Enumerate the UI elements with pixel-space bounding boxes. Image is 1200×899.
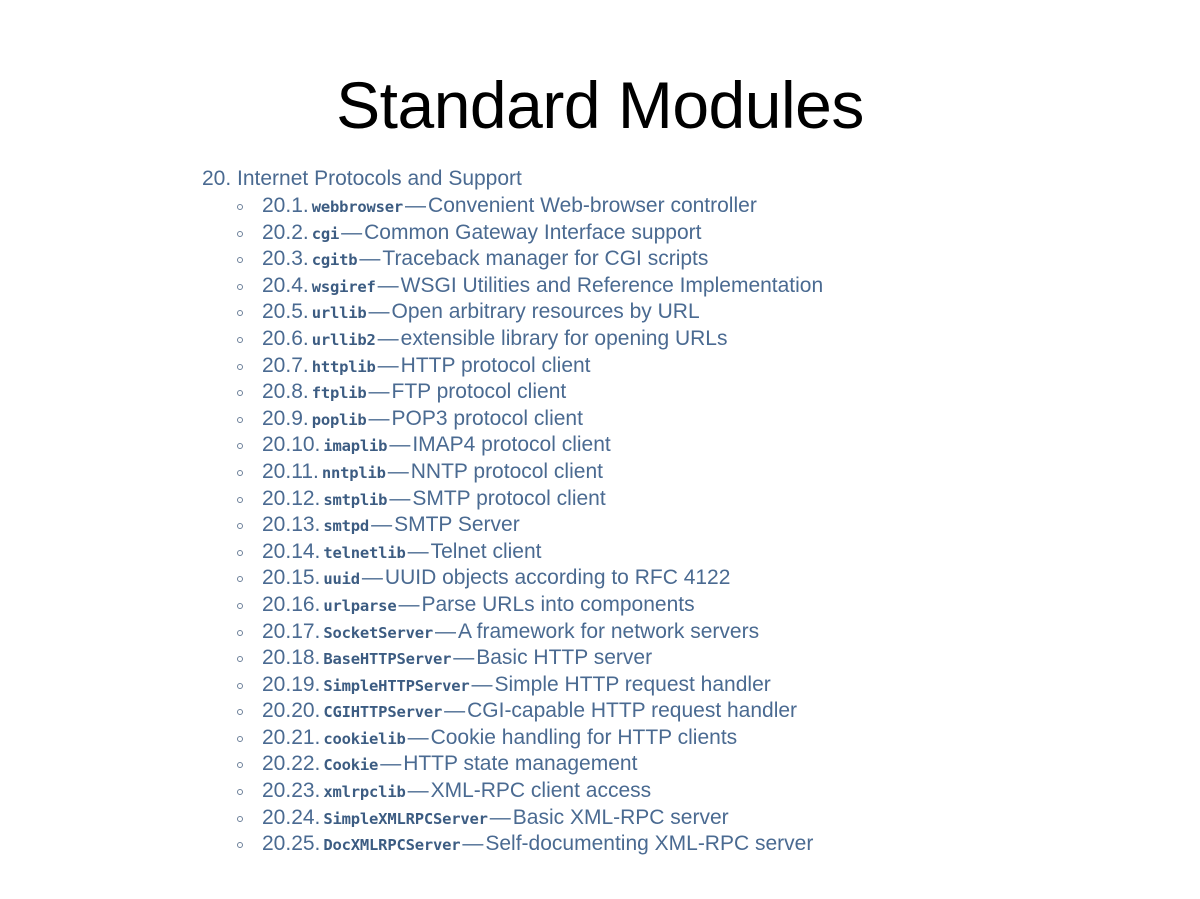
- em-dash-separator: —: [387, 487, 412, 510]
- list-item-number: 20.15.: [262, 566, 320, 589]
- module-description: Parse URLs into components: [421, 593, 694, 616]
- module-name[interactable]: urlparse: [320, 597, 396, 615]
- module-name[interactable]: wsgiref: [309, 278, 376, 296]
- list-item-number: 20.24.: [262, 806, 320, 829]
- list-item-number: 20.17.: [262, 620, 320, 643]
- list-item-number: 20.10.: [262, 433, 320, 456]
- module-name[interactable]: urllib: [309, 304, 367, 322]
- em-dash-separator: —: [378, 752, 403, 775]
- module-description: Convenient Web-browser controller: [428, 194, 757, 217]
- module-description: Telnet client: [431, 540, 542, 563]
- list-item[interactable]: 20.8.ftplib—FTP protocol client: [202, 379, 1162, 406]
- hollow-circle-bullet-icon: [237, 443, 243, 449]
- module-name[interactable]: ftplib: [309, 384, 367, 402]
- list-item-number: 20.19.: [262, 673, 320, 696]
- em-dash-separator: —: [387, 433, 412, 456]
- module-description: HTTP state management: [403, 752, 637, 775]
- list-item[interactable]: 20.5.urllib—Open arbitrary resources by …: [202, 299, 1162, 326]
- em-dash-separator: —: [339, 221, 364, 244]
- list-item[interactable]: 20.23.xmlrpclib—XML-RPC client access: [202, 778, 1162, 805]
- em-dash-separator: —: [360, 566, 385, 589]
- em-dash-separator: —: [369, 513, 394, 536]
- module-description: CGI-capable HTTP request handler: [467, 699, 797, 722]
- list-item[interactable]: 20.2.cgi—Common Gateway Interface suppor…: [202, 220, 1162, 247]
- em-dash-separator: —: [470, 673, 495, 696]
- list-item[interactable]: 20.17.SocketServer—A framework for netwo…: [202, 619, 1162, 646]
- module-description: SMTP protocol client: [412, 487, 605, 510]
- module-name[interactable]: SimpleXMLRPCServer: [320, 810, 487, 828]
- list-item-number: 20.16.: [262, 593, 320, 616]
- list-item-number: 20.4.: [262, 274, 309, 297]
- module-name[interactable]: poplib: [309, 411, 367, 429]
- module-description: WSGI Utilities and Reference Implementat…: [401, 274, 824, 297]
- em-dash-separator: —: [357, 247, 382, 270]
- hollow-circle-bullet-icon: [237, 257, 243, 263]
- module-name[interactable]: cgitb: [309, 251, 358, 269]
- hollow-circle-bullet-icon: [237, 576, 243, 582]
- module-description: NNTP protocol client: [411, 460, 603, 483]
- list-item[interactable]: 20.10.imaplib—IMAP4 protocol client: [202, 432, 1162, 459]
- hollow-circle-bullet-icon: [237, 337, 243, 343]
- module-description: POP3 protocol client: [392, 407, 583, 430]
- em-dash-separator: —: [406, 726, 431, 749]
- list-item-number: 20.2.: [262, 221, 309, 244]
- module-description: Cookie handling for HTTP clients: [431, 726, 738, 749]
- module-name[interactable]: webbrowser: [309, 198, 403, 216]
- em-dash-separator: —: [396, 593, 421, 616]
- hollow-circle-bullet-icon: [237, 523, 243, 529]
- module-name[interactable]: SocketServer: [320, 624, 433, 642]
- hollow-circle-bullet-icon: [237, 789, 243, 795]
- module-name[interactable]: telnetlib: [320, 544, 405, 562]
- hollow-circle-bullet-icon: [237, 550, 243, 556]
- em-dash-separator: —: [403, 194, 428, 217]
- module-description: Simple HTTP request handler: [495, 673, 771, 696]
- module-name[interactable]: DocXMLRPCServer: [320, 836, 460, 854]
- hollow-circle-bullet-icon: [237, 310, 243, 316]
- hollow-circle-bullet-icon: [237, 497, 243, 503]
- module-description: Basic HTTP server: [476, 646, 652, 669]
- list-item-number: 20.5.: [262, 300, 309, 323]
- em-dash-separator: —: [367, 380, 392, 403]
- hollow-circle-bullet-icon: [237, 603, 243, 609]
- list-item[interactable]: 20.1.webbrowser—Convenient Web-browser c…: [202, 193, 1162, 220]
- list-item[interactable]: 20.20.CGIHTTPServer—CGI-capable HTTP req…: [202, 698, 1162, 725]
- module-description: HTTP protocol client: [401, 354, 591, 377]
- hollow-circle-bullet-icon: [237, 816, 243, 822]
- module-description: Self-documenting XML-RPC server: [485, 832, 813, 855]
- list-item[interactable]: 20.11.nntplib—NNTP protocol client: [202, 459, 1162, 486]
- module-name[interactable]: xmlrpclib: [320, 783, 405, 801]
- em-dash-separator: —: [406, 540, 431, 563]
- em-dash-separator: —: [442, 699, 467, 722]
- list-item-number: 20.12.: [262, 487, 320, 510]
- list-item-number: 20.9.: [262, 407, 309, 430]
- em-dash-separator: —: [367, 407, 392, 430]
- list-item-number: 20.11.: [262, 460, 319, 483]
- module-description: Common Gateway Interface support: [364, 221, 701, 244]
- hollow-circle-bullet-icon: [237, 842, 243, 848]
- hollow-circle-bullet-icon: [237, 204, 243, 210]
- module-name[interactable]: cookielib: [320, 730, 405, 748]
- module-name[interactable]: SimpleHTTPServer: [320, 677, 469, 695]
- list-item[interactable]: 20.3.cgitb—Traceback manager for CGI scr…: [202, 246, 1162, 273]
- module-description: A framework for network servers: [458, 620, 759, 643]
- module-name[interactable]: urllib2: [309, 331, 376, 349]
- hollow-circle-bullet-icon: [237, 762, 243, 768]
- module-description: Traceback manager for CGI scripts: [382, 247, 708, 270]
- hollow-circle-bullet-icon: [237, 470, 243, 476]
- list-item[interactable]: 20.16.urlparse—Parse URLs into component…: [202, 592, 1162, 619]
- module-description: UUID objects according to RFC 4122: [385, 566, 731, 589]
- module-description: Basic XML-RPC server: [513, 806, 729, 829]
- list-item[interactable]: 20.21.cookielib—Cookie handling for HTTP…: [202, 725, 1162, 752]
- list-item-number: 20.6.: [262, 327, 309, 350]
- em-dash-separator: —: [433, 620, 458, 643]
- em-dash-separator: —: [367, 300, 392, 323]
- hollow-circle-bullet-icon: [237, 284, 243, 290]
- module-name[interactable]: smtplib: [320, 491, 387, 509]
- module-name[interactable]: nntplib: [319, 464, 386, 482]
- module-description: extensible library for opening URLs: [401, 327, 728, 350]
- list-item-number: 20.23.: [262, 779, 320, 802]
- list-item[interactable]: 20.6.urllib2—extensible library for open…: [202, 326, 1162, 353]
- list-item-number: 20.1.: [262, 194, 309, 217]
- module-name[interactable]: imaplib: [320, 437, 387, 455]
- em-dash-separator: —: [451, 646, 476, 669]
- section-heading: 20. Internet Protocols and Support: [202, 166, 1162, 192]
- module-description: IMAP4 protocol client: [412, 433, 610, 456]
- list-item[interactable]: 20.7.httplib—HTTP protocol client: [202, 353, 1162, 380]
- module-name[interactable]: httplib: [309, 358, 376, 376]
- list-item[interactable]: 20.13.smtpd—SMTP Server: [202, 512, 1162, 539]
- module-description: XML-RPC client access: [431, 779, 652, 802]
- list-item-number: 20.20.: [262, 699, 320, 722]
- em-dash-separator: —: [376, 327, 401, 350]
- em-dash-separator: —: [460, 832, 485, 855]
- list-item[interactable]: 20.9.poplib—POP3 protocol client: [202, 406, 1162, 433]
- list-item[interactable]: 20.22.Cookie—HTTP state management: [202, 751, 1162, 778]
- page-title: Standard Modules: [0, 68, 1200, 142]
- hollow-circle-bullet-icon: [237, 683, 243, 689]
- list-item[interactable]: 20.15.uuid—UUID objects according to RFC…: [202, 565, 1162, 592]
- content-body: 20. Internet Protocols and Support 20.1.…: [202, 166, 1162, 858]
- list-item-number: 20.7.: [262, 354, 309, 377]
- list-item-number: 20.13.: [262, 513, 320, 536]
- hollow-circle-bullet-icon: [237, 736, 243, 742]
- hollow-circle-bullet-icon: [237, 656, 243, 662]
- list-item-number: 20.14.: [262, 540, 320, 563]
- list-item-number: 20.8.: [262, 380, 309, 403]
- hollow-circle-bullet-icon: [237, 364, 243, 370]
- em-dash-separator: —: [386, 460, 411, 483]
- hollow-circle-bullet-icon: [237, 709, 243, 715]
- list-item[interactable]: 20.24.SimpleXMLRPCServer—Basic XML-RPC s…: [202, 805, 1162, 832]
- slide: Standard Modules 20. Internet Protocols …: [0, 0, 1200, 899]
- list-item[interactable]: 20.12.smtplib—SMTP protocol client: [202, 486, 1162, 513]
- list-item[interactable]: 20.4.wsgiref—WSGI Utilities and Referenc…: [202, 273, 1162, 300]
- module-description: FTP protocol client: [392, 380, 567, 403]
- list-item[interactable]: 20.14.telnetlib—Telnet client: [202, 539, 1162, 566]
- hollow-circle-bullet-icon: [237, 390, 243, 396]
- list-item-number: 20.22.: [262, 752, 320, 775]
- em-dash-separator: —: [488, 806, 513, 829]
- list-item-number: 20.21.: [262, 726, 320, 749]
- list-item[interactable]: 20.25.DocXMLRPCServer—Self-documenting X…: [202, 831, 1162, 858]
- list-item[interactable]: 20.19.SimpleHTTPServer—Simple HTTP reque…: [202, 672, 1162, 699]
- module-description: SMTP Server: [394, 513, 520, 536]
- hollow-circle-bullet-icon: [237, 417, 243, 423]
- list-item-number: 20.25.: [262, 832, 320, 855]
- module-description: Open arbitrary resources by URL: [392, 300, 700, 323]
- hollow-circle-bullet-icon: [237, 630, 243, 636]
- hollow-circle-bullet-icon: [237, 231, 243, 237]
- em-dash-separator: —: [376, 274, 401, 297]
- module-name[interactable]: Cookie: [320, 756, 378, 774]
- list-item-number: 20.3.: [262, 247, 309, 270]
- module-name[interactable]: cgi: [309, 225, 339, 243]
- module-name[interactable]: BaseHTTPServer: [320, 650, 451, 668]
- list-item[interactable]: 20.18.BaseHTTPServer—Basic HTTP server: [202, 645, 1162, 672]
- module-list: 20.1.webbrowser—Convenient Web-browser c…: [202, 193, 1162, 858]
- module-name[interactable]: CGIHTTPServer: [320, 703, 442, 721]
- module-name[interactable]: uuid: [320, 570, 360, 588]
- module-name[interactable]: smtpd: [320, 517, 369, 535]
- list-item-number: 20.18.: [262, 646, 320, 669]
- em-dash-separator: —: [406, 779, 431, 802]
- em-dash-separator: —: [376, 354, 401, 377]
